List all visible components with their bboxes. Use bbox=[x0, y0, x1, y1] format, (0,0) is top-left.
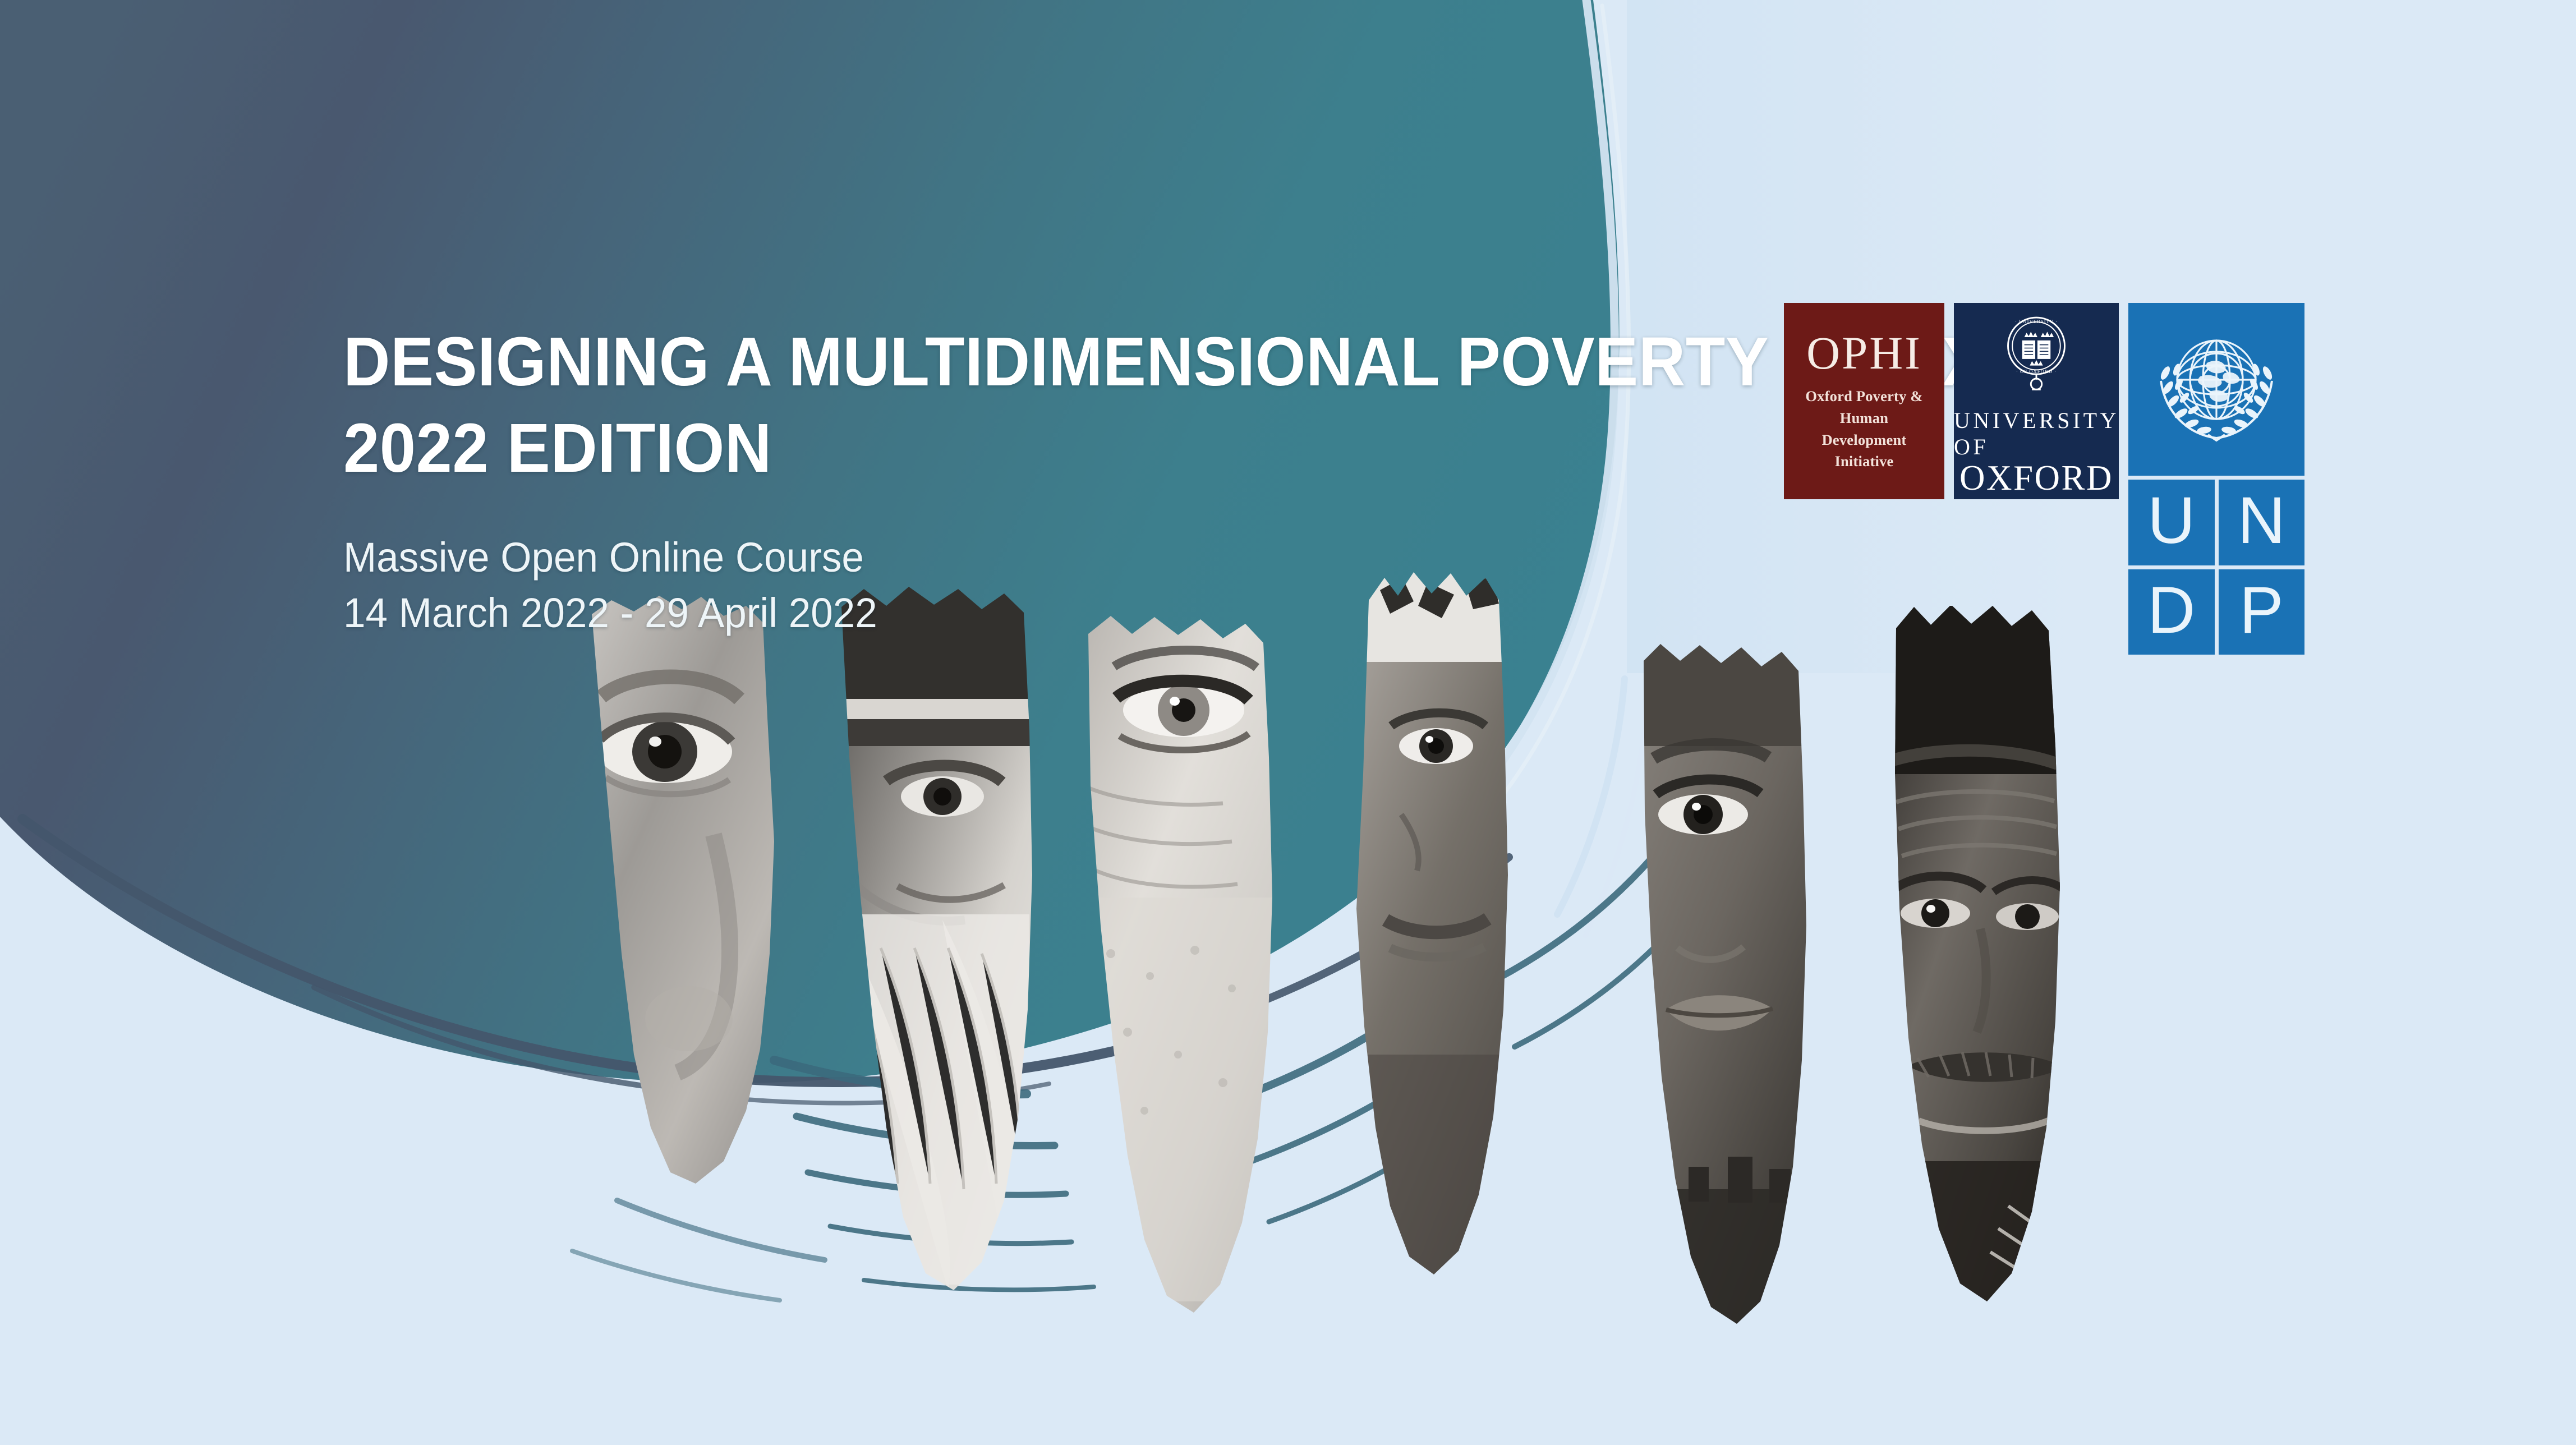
svg-text:· OF OXFORD ·: · OF OXFORD · bbox=[2016, 369, 2057, 374]
undp-letter-d: D bbox=[2128, 569, 2215, 655]
undp-emblem-panel bbox=[2128, 303, 2304, 476]
course-type-label: Massive Open Online Course bbox=[343, 530, 1690, 585]
oxford-name-label: OXFORD bbox=[1959, 460, 2113, 497]
page-title: DESIGNING A MULTIDIMENSIONAL POVERTY IND… bbox=[343, 321, 1662, 404]
undp-letter-u: U bbox=[2128, 480, 2215, 565]
un-globe-laurel-icon bbox=[2146, 319, 2287, 459]
svg-text:· UNIVERSITY ·: · UNIVERSITY · bbox=[2015, 319, 2058, 324]
mooc-banner: DESIGNING A MULTIDIMENSIONAL POVERTY IND… bbox=[0, 0, 2576, 1445]
oxford-university-label: UNIVERSITY OF bbox=[1954, 407, 2119, 460]
undp-letter-grid: U N D P bbox=[2128, 480, 2304, 655]
ophi-tagline-line1: Oxford Poverty & Human bbox=[1792, 385, 1936, 429]
course-dates-label: 14 March 2022 - 29 April 2022 bbox=[343, 586, 1690, 641]
oxford-logo[interactable]: · UNIVERSITY · · OF OXFORD · bbox=[1954, 303, 2119, 499]
undp-letter-n: N bbox=[2219, 480, 2305, 565]
oxford-crest-icon: · UNIVERSITY · · OF OXFORD · bbox=[1998, 311, 2074, 404]
ophi-acronym: OPHI bbox=[1806, 330, 1922, 376]
ophi-tagline-line2: Development Initiative bbox=[1792, 429, 1936, 472]
banner-text-block: DESIGNING A MULTIDIMENSIONAL POVERTY IND… bbox=[343, 321, 1746, 641]
page-title-edition: 2022 EDITION bbox=[343, 407, 1662, 490]
banner-artwork bbox=[0, 0, 2576, 1445]
undp-letter-p: P bbox=[2219, 569, 2305, 655]
undp-logo[interactable]: U N D P bbox=[2128, 303, 2304, 655]
partner-logos: OPHI Oxford Poverty & Human Development … bbox=[1784, 303, 2304, 655]
ophi-logo[interactable]: OPHI Oxford Poverty & Human Development … bbox=[1784, 303, 1944, 499]
